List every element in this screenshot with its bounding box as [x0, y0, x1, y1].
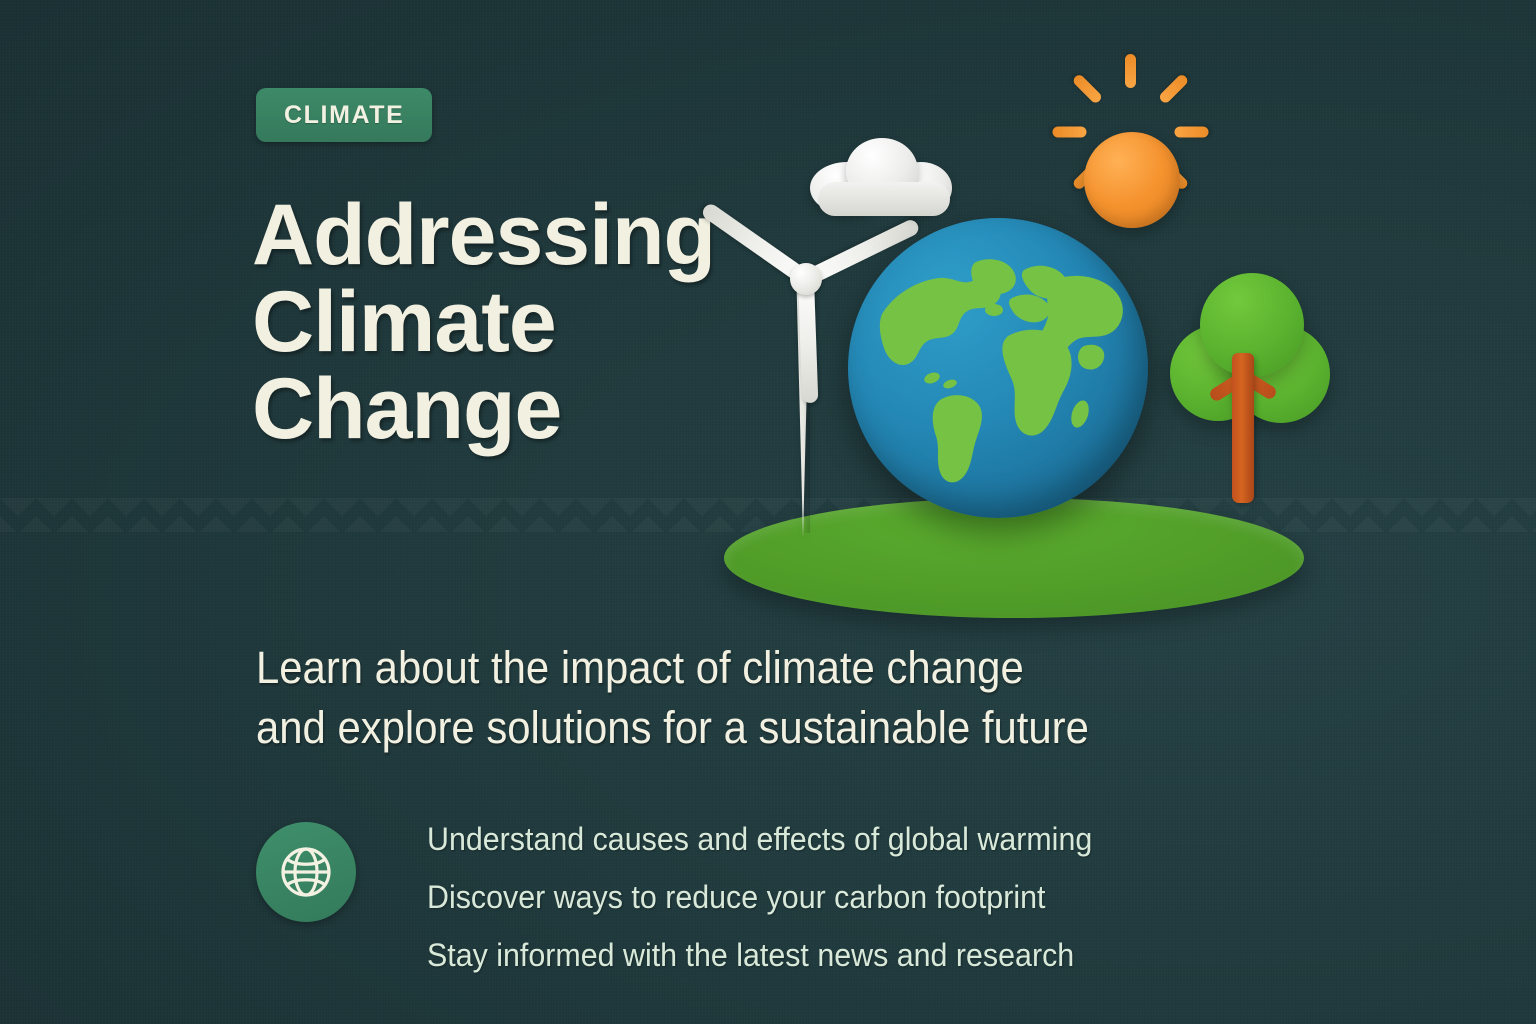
- category-badge-label: CLIMATE: [284, 101, 404, 130]
- category-badge[interactable]: CLIMATE: [256, 88, 432, 142]
- feature-list-block: Understand causes and effects of global …: [256, 806, 1127, 984]
- page-subtitle: Learn about the impact of climate change…: [256, 638, 1149, 758]
- hero-banner: CLIMATE Addressing Climate Change Learn …: [0, 0, 1536, 1024]
- list-item: Discover ways to reduce your carbon foot…: [427, 868, 1092, 926]
- cloud-icon: [810, 134, 960, 214]
- cloud-base: [818, 182, 950, 216]
- tree-trunk: [1232, 353, 1254, 503]
- sun-ray: [1125, 54, 1136, 88]
- page-subtitle-line-1: Learn about the impact of climate change: [256, 638, 1149, 698]
- sun-ray: [1158, 73, 1190, 105]
- sun-ray: [1175, 127, 1209, 138]
- list-item: Understand causes and effects of global …: [427, 810, 1092, 868]
- page-subtitle-line-2: and explore solutions for a sustainable …: [256, 698, 1149, 758]
- sun-ray: [1071, 73, 1103, 105]
- globe-icon: [256, 822, 356, 922]
- earth-globe-icon: [848, 218, 1148, 518]
- feature-list: Understand causes and effects of global …: [427, 806, 1127, 984]
- sun-core: [1084, 132, 1180, 228]
- climate-illustration: [690, 58, 1330, 618]
- list-item: Stay informed with the latest news and r…: [427, 926, 1092, 984]
- sun-ray: [1053, 127, 1087, 138]
- turbine-hub: [790, 263, 822, 295]
- tree-icon: [1170, 273, 1330, 533]
